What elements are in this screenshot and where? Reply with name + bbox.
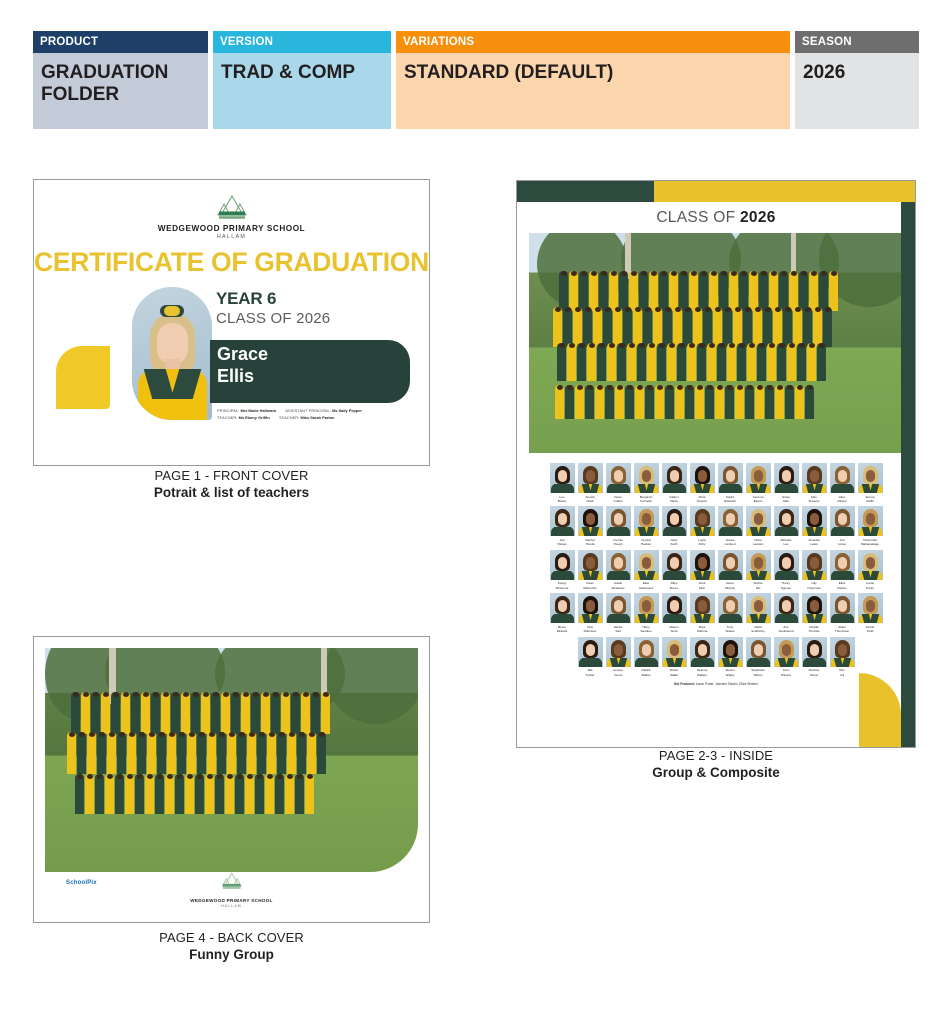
student-name-label: CrystalHudson bbox=[634, 538, 659, 547]
student-name-label: PatrickWalker bbox=[634, 668, 659, 677]
student-thumbnail bbox=[690, 463, 715, 493]
student-name-label: CallumDavis bbox=[662, 495, 687, 504]
student-name-label: PoppyMcKenna bbox=[550, 581, 575, 590]
student-thumbnail bbox=[550, 550, 575, 580]
student-name-label: DeanMcKenzie bbox=[578, 581, 603, 590]
composite-student: LiamWinters bbox=[774, 637, 799, 677]
student-thumbnail bbox=[830, 463, 855, 493]
student-name-label: AliceGibson bbox=[830, 495, 855, 504]
composite-student: MaxFinnerty bbox=[802, 463, 827, 503]
spec-header-version: VERSION bbox=[213, 31, 391, 53]
composite-row: JettHainesRachelHondaConnieHoughCrystalH… bbox=[539, 506, 893, 546]
spec-cell-season: SEASON 2026 bbox=[795, 31, 919, 129]
student-thumbnail bbox=[802, 463, 827, 493]
student-thumbnail bbox=[550, 593, 575, 623]
student-name-label: LucasPorter bbox=[858, 581, 883, 590]
composite-student: CallumDavis bbox=[662, 463, 687, 503]
composite-row: PoppyMcKennaDeanMcKenzieAustinMeadowsEli… bbox=[539, 550, 893, 590]
composite-student: SophieNel bbox=[746, 550, 771, 590]
student-name-label: JamesLambert bbox=[718, 538, 743, 547]
student-thumbnail bbox=[718, 463, 743, 493]
student-name-label: ShaunWallis bbox=[662, 668, 687, 677]
student-thumbnail bbox=[606, 550, 631, 580]
student-thumbnail bbox=[802, 550, 827, 580]
school-name-text: WEDGEWOOD PRIMARY SCHOOL bbox=[190, 898, 273, 903]
composite-student: ConnieHough bbox=[606, 506, 631, 546]
student-thumbnail bbox=[746, 593, 771, 623]
composite-student: GemmaEsters bbox=[746, 463, 771, 503]
student-name-label: AustinMeadows bbox=[606, 581, 631, 590]
student-thumbnail bbox=[802, 506, 827, 536]
student-thumbnail bbox=[746, 637, 771, 667]
composite-student: DeanMcKenzie bbox=[578, 550, 603, 590]
composite-student: HarrySanders bbox=[634, 593, 659, 633]
wedgewood-mountain-logo-icon bbox=[217, 872, 247, 891]
composite-student: AmeliaClark bbox=[578, 463, 603, 503]
student-thumbnail bbox=[802, 593, 827, 623]
student-name-label: AaronMurphy bbox=[718, 581, 743, 590]
spec-cell-product: PRODUCT GRADUATION FOLDER bbox=[33, 31, 208, 129]
composite-student: StevenWigley bbox=[718, 637, 743, 677]
student-thumbnail bbox=[662, 463, 687, 493]
page-2-3-caption-line-2: Group & Composite bbox=[516, 765, 916, 780]
student-name-label: EliseMohamed bbox=[634, 581, 659, 590]
composite-student: RiyaSharma bbox=[690, 593, 715, 633]
student-name-label: BruceRicketts bbox=[550, 625, 575, 634]
student-name-label: DeanCollins bbox=[606, 495, 631, 504]
composite-student: PatrickWalker bbox=[634, 637, 659, 677]
student-thumbnail bbox=[662, 550, 687, 580]
composite-student: RachelHonda bbox=[578, 506, 603, 546]
student-name-label: MichelleLee bbox=[774, 538, 799, 547]
composite-student: JamesLambert bbox=[718, 506, 743, 546]
composite-portrait-grid: LeeBowerAmeliaClarkDeanCollinsBenjaminCo… bbox=[517, 453, 915, 686]
student-thumbnail bbox=[746, 463, 771, 493]
dark-green-right-bar bbox=[901, 202, 915, 747]
back-cover-footer: SchoolPix WEDGEWOOD PRIMARY SCHOOL HALLA… bbox=[34, 872, 429, 912]
composite-student: OliviaSoutherby bbox=[746, 593, 771, 633]
composite-student: MichelleLee bbox=[774, 506, 799, 546]
spec-value-variations: STANDARD (DEFAULT) bbox=[396, 53, 790, 129]
student-thumbnail bbox=[634, 506, 659, 536]
not-featured-note: Not Featured: Jason Potter, Jasmine Takc… bbox=[539, 682, 893, 686]
spec-value-season: 2026 bbox=[795, 53, 919, 129]
composite-student: AliceGibson bbox=[830, 463, 855, 503]
composite-student: DeanCollins bbox=[606, 463, 631, 503]
student-name-label: GemmaEsters bbox=[746, 495, 771, 504]
page-1-caption-line-1: PAGE 1 - FRONT COVER bbox=[33, 468, 430, 483]
student-name-label: JettLinton bbox=[830, 538, 855, 547]
student-thumbnail bbox=[718, 593, 743, 623]
spec-cell-version: VERSION TRAD & COMP bbox=[213, 31, 391, 129]
student-thumbnail bbox=[690, 506, 715, 536]
student-thumbnail bbox=[662, 593, 687, 623]
student-name-label: StevenWigley bbox=[718, 668, 743, 677]
class-of-year: 2026 bbox=[740, 209, 776, 226]
page-1-caption: PAGE 1 - FRONT COVER Potrait & list of t… bbox=[33, 468, 430, 500]
composite-student: AaronMurphy bbox=[718, 550, 743, 590]
school-suburb-text: HALLAM bbox=[190, 904, 273, 908]
student-thumbnail bbox=[550, 506, 575, 536]
student-name-label: RiyaSharma bbox=[690, 625, 715, 634]
dark-green-bar bbox=[517, 181, 654, 202]
composite-student: BruceRicketts bbox=[550, 593, 575, 633]
student-thumbnail bbox=[578, 506, 603, 536]
student-thumbnail bbox=[718, 506, 743, 536]
student-thumbnail bbox=[774, 637, 799, 667]
page-4-back-cover-preview: SchoolPix WEDGEWOOD PRIMARY SCHOOL HALLA… bbox=[33, 636, 430, 923]
composite-student: ChamindaMahawattage bbox=[858, 506, 883, 546]
staff-label: TEACHER: bbox=[217, 415, 237, 420]
student-thumbnail bbox=[662, 506, 687, 536]
student-name-label: PhoXui bbox=[830, 668, 855, 677]
student-thumbnail bbox=[634, 463, 659, 493]
student-thumbnail bbox=[858, 593, 883, 623]
student-name-label: MiaTucker bbox=[578, 668, 603, 677]
composite-student: DanielSalt bbox=[606, 593, 631, 633]
student-name-label: ChamindaMahawattage bbox=[858, 538, 883, 547]
school-name-text: WEDGEWOOD PRIMARY SCHOOL bbox=[34, 224, 429, 233]
composite-student: ElizaPainter bbox=[830, 550, 855, 590]
student-name-label: DavidEdwards bbox=[718, 495, 743, 504]
class-of-heading: CLASS OF 2026 bbox=[517, 202, 915, 233]
student-portrait-photo bbox=[132, 287, 212, 420]
composite-student: PoppyMcKenna bbox=[550, 550, 575, 590]
staff-label: PRINCIPAL: bbox=[217, 408, 239, 413]
composite-student: PiersDupont bbox=[690, 463, 715, 503]
student-name-label: HarrySanders bbox=[634, 625, 659, 634]
composite-student: ShaunWallis bbox=[662, 637, 687, 677]
student-first-name: Grace bbox=[217, 344, 268, 365]
student-name-label: RachelHonda bbox=[578, 538, 603, 547]
staff-value: Ms Ebony Griffin bbox=[239, 415, 270, 420]
composite-student: ChloeLaurant bbox=[746, 506, 771, 546]
student-last-name: Ellis bbox=[217, 366, 254, 387]
student-thumbnail bbox=[690, 593, 715, 623]
student-name-label: HenryNguyen bbox=[774, 581, 799, 590]
composite-student: AmandaLewis bbox=[802, 506, 827, 546]
student-name-label: JettHaines bbox=[550, 538, 575, 547]
student-name-label: PiersDupont bbox=[690, 495, 715, 504]
student-name-label: EmmaGriffin bbox=[858, 495, 883, 504]
composite-student: TonySloane bbox=[718, 593, 743, 633]
student-name-label: ScottMuir bbox=[690, 581, 715, 590]
spec-value-version: TRAD & COMP bbox=[213, 53, 391, 129]
composite-student: LillyO'Gorman bbox=[802, 550, 827, 590]
composite-student: CarlyKeith bbox=[662, 506, 687, 546]
student-thumbnail bbox=[690, 637, 715, 667]
student-thumbnail bbox=[746, 550, 771, 580]
page-1-front-cover-preview: WEDGEWOOD PRIMARY SCHOOL HALLAM CERTIFIC… bbox=[33, 179, 430, 466]
composite-student: FletcherWood bbox=[802, 637, 827, 677]
student-name-label: ClayRobinson bbox=[578, 625, 603, 634]
student-thumbnail bbox=[578, 593, 603, 623]
page-2-3-caption: PAGE 2-3 - INSIDE Group & Composite bbox=[516, 748, 916, 780]
schoolpix-logo: SchoolPix bbox=[66, 880, 97, 886]
student-name-label: OliviaSoutherby bbox=[746, 625, 771, 634]
back-cover-school-logo: WEDGEWOOD PRIMARY SCHOOL HALLAM bbox=[190, 872, 273, 908]
student-thumbnail bbox=[606, 506, 631, 536]
composite-student: CrystalHudson bbox=[634, 506, 659, 546]
student-thumbnail bbox=[718, 550, 743, 580]
student-thumbnail bbox=[858, 506, 883, 536]
composite-student: JarrodTodd bbox=[858, 593, 883, 633]
composite-row: BruceRickettsClayRobinsonDanielSaltHarry… bbox=[539, 593, 893, 633]
student-name-label: BenjaminConnolly bbox=[634, 495, 659, 504]
student-thumbnail bbox=[858, 550, 883, 580]
composite-student: ClayRobinson bbox=[578, 593, 603, 633]
student-name-label: LaylaKirby bbox=[690, 538, 715, 547]
wedgewood-mountain-logo-icon bbox=[210, 194, 254, 222]
student-name-label: CharlieThomas bbox=[802, 625, 827, 634]
student-thumbnail bbox=[634, 637, 659, 667]
student-name-label: MasonScott bbox=[662, 625, 687, 634]
schoolpix-label: SchoolPix bbox=[66, 880, 97, 886]
composite-student: EliseMohamed bbox=[634, 550, 659, 590]
composite-student: HenryNguyen bbox=[774, 550, 799, 590]
composite-student: MiaTucker bbox=[578, 637, 603, 677]
certificate-title: CERTIFICATE OF GRADUATION bbox=[34, 247, 429, 278]
student-name-label: FletcherWood bbox=[802, 668, 827, 677]
student-thumbnail bbox=[774, 593, 799, 623]
composite-student: BenjaminConnolly bbox=[634, 463, 659, 503]
spec-cell-variations: VARIATIONS STANDARD (DEFAULT) bbox=[396, 31, 790, 129]
year-level-text: YEAR 6 bbox=[216, 289, 276, 309]
student-thumbnail bbox=[634, 550, 659, 580]
page-4-caption-line-2: Funny Group bbox=[33, 947, 430, 962]
spec-header-product: PRODUCT bbox=[33, 31, 208, 53]
composite-row: LeeBowerAmeliaClarkDeanCollinsBenjaminCo… bbox=[539, 463, 893, 503]
student-thumbnail bbox=[578, 463, 603, 493]
staff-row: PRINCIPAL: Mrs Marie Hallmark ASSISTANT … bbox=[217, 408, 417, 415]
student-thumbnail bbox=[718, 637, 743, 667]
student-thumbnail bbox=[830, 550, 855, 580]
student-name-label: AmeliaClark bbox=[578, 495, 603, 504]
funny-group-photo bbox=[45, 648, 418, 872]
composite-student: ScottMuir bbox=[690, 550, 715, 590]
page-2-3-inside-preview: CLASS OF 2026 LeeBowerAmeliaClarkDeanCol… bbox=[516, 180, 916, 748]
student-name-label: AmandaLewis bbox=[802, 538, 827, 547]
composite-student: MasonScott bbox=[662, 593, 687, 633]
composite-student: AmayaVerod bbox=[606, 637, 631, 677]
student-name-label: ChloeLaurant bbox=[746, 538, 771, 547]
student-name-label: ElizaPainter bbox=[830, 581, 855, 590]
yellow-accent-shape bbox=[56, 346, 110, 409]
student-thumbnail bbox=[578, 550, 603, 580]
staff-list: PRINCIPAL: Mrs Marie Hallmark ASSISTANT … bbox=[217, 408, 417, 422]
student-name-label: AidenThompson bbox=[830, 625, 855, 634]
student-thumbnail bbox=[774, 550, 799, 580]
student-name-label: SophieNel bbox=[746, 581, 771, 590]
page-23-top-bars bbox=[517, 181, 915, 202]
student-thumbnail bbox=[774, 463, 799, 493]
student-thumbnail bbox=[690, 550, 715, 580]
page-4-caption: PAGE 4 - BACK COVER Funny Group bbox=[33, 930, 430, 962]
class-of-text: CLASS OF 2026 bbox=[216, 310, 330, 327]
student-name-label: GraceEllis bbox=[774, 495, 799, 504]
student-thumbnail bbox=[802, 637, 827, 667]
composite-student: EmmaGriffin bbox=[858, 463, 883, 503]
student-thumbnail bbox=[746, 506, 771, 536]
student-name-label: StephanieWilcox bbox=[746, 668, 771, 677]
student-thumbnail bbox=[606, 463, 631, 493]
composite-student: LaylaKirby bbox=[690, 506, 715, 546]
staff-row: TEACHER: Ms Ebony Griffin TEACHER: Miss … bbox=[217, 415, 417, 422]
composite-student: JettLinton bbox=[830, 506, 855, 546]
school-logo-block: WEDGEWOOD PRIMARY SCHOOL HALLAM bbox=[34, 194, 429, 240]
page-1-caption-line-2: Potrait & list of teachers bbox=[33, 485, 430, 500]
page-2-3-caption-line-1: PAGE 2-3 - INSIDE bbox=[516, 748, 916, 763]
student-thumbnail bbox=[578, 637, 603, 667]
student-thumbnail bbox=[606, 637, 631, 667]
student-thumbnail bbox=[606, 593, 631, 623]
student-thumbnail bbox=[858, 463, 883, 493]
student-name-label: AmayaVerod bbox=[606, 668, 631, 677]
staff-label-2: ASSISTANT PRINCIPAL: bbox=[285, 408, 331, 413]
staff-value-2: Miss Sarah Parton bbox=[300, 415, 334, 420]
page-4-caption-line-1: PAGE 4 - BACK COVER bbox=[33, 930, 430, 945]
composite-student: DavidEdwards bbox=[718, 463, 743, 503]
staff-label-2: TEACHER: bbox=[279, 415, 299, 420]
student-name-label: ConnieHough bbox=[606, 538, 631, 547]
student-name-label: MaxFinnerty bbox=[802, 495, 827, 504]
student-name-label: LiamWinters bbox=[774, 668, 799, 677]
composite-student: AustinMeadows bbox=[606, 550, 631, 590]
student-name-label: LillyO'Gorman bbox=[802, 581, 827, 590]
student-thumbnail bbox=[830, 593, 855, 623]
composite-student: AidenThompson bbox=[830, 593, 855, 633]
student-thumbnail bbox=[830, 506, 855, 536]
composite-student: LucasPorter bbox=[858, 550, 883, 590]
class-group-photo bbox=[529, 233, 903, 453]
spec-header-variations: VARIATIONS bbox=[396, 31, 790, 53]
spec-bar: PRODUCT GRADUATION FOLDER VERSION TRAD &… bbox=[33, 31, 919, 129]
composite-student: DeannaWalters bbox=[690, 637, 715, 677]
composite-student: ZoeSouthwood bbox=[774, 593, 799, 633]
student-name-label: RileyMoore bbox=[662, 581, 687, 590]
school-suburb-text: HALLAM bbox=[34, 234, 429, 240]
student-name-label: DanielSalt bbox=[606, 625, 631, 634]
student-thumbnail bbox=[830, 637, 855, 667]
student-thumbnail bbox=[662, 637, 687, 667]
composite-student: GraceEllis bbox=[774, 463, 799, 503]
not-featured-label: Not Featured: bbox=[674, 682, 695, 686]
student-name-label: TonySloane bbox=[718, 625, 743, 634]
staff-value-2: Ms Sally Pepper bbox=[332, 408, 362, 413]
composite-row: MiaTuckerAmayaVerodPatrickWalkerShaunWal… bbox=[539, 637, 893, 677]
gold-bar bbox=[654, 181, 915, 202]
spec-header-season: SEASON bbox=[795, 31, 919, 53]
student-name-label: ZoeSouthwood bbox=[774, 625, 799, 634]
composite-student: CharlieThomas bbox=[802, 593, 827, 633]
composite-student: RileyMoore bbox=[662, 550, 687, 590]
composite-student: StephanieWilcox bbox=[746, 637, 771, 677]
student-name-label: DeannaWalters bbox=[690, 668, 715, 677]
composite-student: JettHaines bbox=[550, 506, 575, 546]
student-name-label: CarlyKeith bbox=[662, 538, 687, 547]
not-featured-names: Jason Potter, Jasmine Takcini, Elliot Wi… bbox=[696, 682, 758, 686]
class-of-prefix: CLASS OF bbox=[656, 209, 740, 226]
spec-value-product: GRADUATION FOLDER bbox=[33, 53, 208, 129]
student-thumbnail bbox=[774, 506, 799, 536]
student-thumbnail bbox=[634, 593, 659, 623]
composite-student: PhoXui bbox=[830, 637, 855, 677]
composite-student: LeeBower bbox=[550, 463, 575, 503]
staff-value: Mrs Marie Hallmark bbox=[240, 408, 276, 413]
student-thumbnail bbox=[550, 463, 575, 493]
student-name-label: JarrodTodd bbox=[858, 625, 883, 634]
student-name-label: LeeBower bbox=[550, 495, 575, 504]
